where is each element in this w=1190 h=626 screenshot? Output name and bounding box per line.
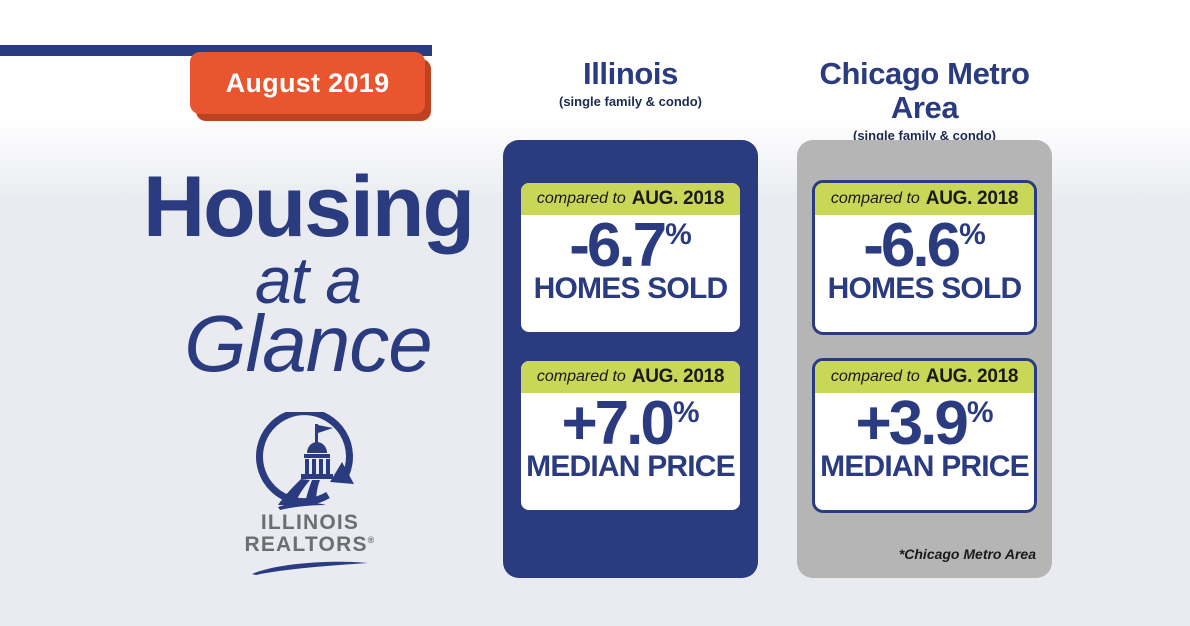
stat-body: -6.7% HOMES SOLD (521, 215, 740, 332)
illinois-realtors-capitol-dome-icon (254, 412, 366, 512)
panel-footnote: *Chicago Metro Area (899, 546, 1036, 562)
percent-symbol: % (673, 396, 700, 429)
stat-value: +3.9% (855, 394, 993, 455)
compare-prefix: compared to (831, 368, 920, 386)
stat-value: -6.6% (863, 216, 986, 277)
stat-panel-chicago: compared to AUG. 2018 -6.6% HOMES SOLD c… (797, 140, 1052, 578)
panel-heading-illinois: Illinois (single family & condo) (503, 57, 758, 109)
logo-swoosh-icon (250, 560, 370, 576)
stat-metric-label: HOMES SOLD (828, 274, 1022, 304)
compare-period: AUG. 2018 (926, 366, 1018, 388)
compare-period: AUG. 2018 (926, 188, 1018, 210)
page-title-line-3: Glance (108, 307, 508, 381)
compare-period: AUG. 2018 (632, 188, 724, 210)
stat-panel-illinois: compared to AUG. 2018 -6.7% HOMES SOLD c… (503, 140, 758, 578)
compare-prefix: compared to (831, 190, 920, 208)
stat-value-number: -6.6 (863, 211, 958, 280)
month-badge: August 2019 (190, 52, 425, 114)
percent-symbol: % (959, 218, 986, 251)
stat-card-chicago-median-price: compared to AUG. 2018 +3.9% MEDIAN PRICE (812, 358, 1037, 513)
market-name-illinois: Illinois (503, 57, 758, 91)
percent-symbol: % (665, 218, 692, 251)
compare-prefix: compared to (537, 368, 626, 386)
stat-card-chicago-homes-sold: compared to AUG. 2018 -6.6% HOMES SOLD (812, 180, 1037, 335)
housing-at-a-glance-infographic: August 2019 Housing at a Glance (0, 0, 1190, 626)
stat-body: +7.0% MEDIAN PRICE (521, 393, 740, 510)
logo-wordmark-line-1: ILLINOIS (240, 512, 380, 534)
page-title-line-1: Housing (108, 168, 508, 248)
stat-metric-label: MEDIAN PRICE (820, 452, 1029, 482)
stat-metric-label: MEDIAN PRICE (526, 452, 735, 482)
market-subtitle-illinois: (single family & condo) (503, 94, 758, 109)
registered-trademark-icon: ® (368, 535, 376, 545)
stat-card-illinois-homes-sold: compared to AUG. 2018 -6.7% HOMES SOLD (518, 180, 743, 335)
stat-value: -6.7% (569, 216, 692, 277)
market-name-chicago: Chicago Metro Area (797, 57, 1052, 125)
stat-value-number: -6.7 (569, 211, 664, 280)
stat-value: +7.0% (561, 394, 699, 455)
stat-value-number: +7.0 (561, 389, 671, 458)
month-badge-label: August 2019 (226, 68, 390, 99)
stat-body: -6.6% HOMES SOLD (815, 215, 1034, 332)
page-title: Housing at a Glance (108, 168, 508, 382)
compare-period: AUG. 2018 (632, 366, 724, 388)
stat-body: +3.9% MEDIAN PRICE (815, 393, 1034, 510)
stat-card-illinois-median-price: compared to AUG. 2018 +7.0% MEDIAN PRICE (518, 358, 743, 513)
panel-heading-chicago: Chicago Metro Area (single family & cond… (797, 57, 1052, 143)
percent-symbol: % (967, 396, 994, 429)
stat-value-number: +3.9 (855, 389, 965, 458)
logo-wordmark-realtors: REALTORS (244, 533, 367, 556)
stat-metric-label: HOMES SOLD (534, 274, 728, 304)
compare-prefix: compared to (537, 190, 626, 208)
logo-wordmark-line-2: REALTORS® (240, 534, 380, 556)
illinois-realtors-logo: ILLINOIS REALTORS® (240, 412, 380, 576)
